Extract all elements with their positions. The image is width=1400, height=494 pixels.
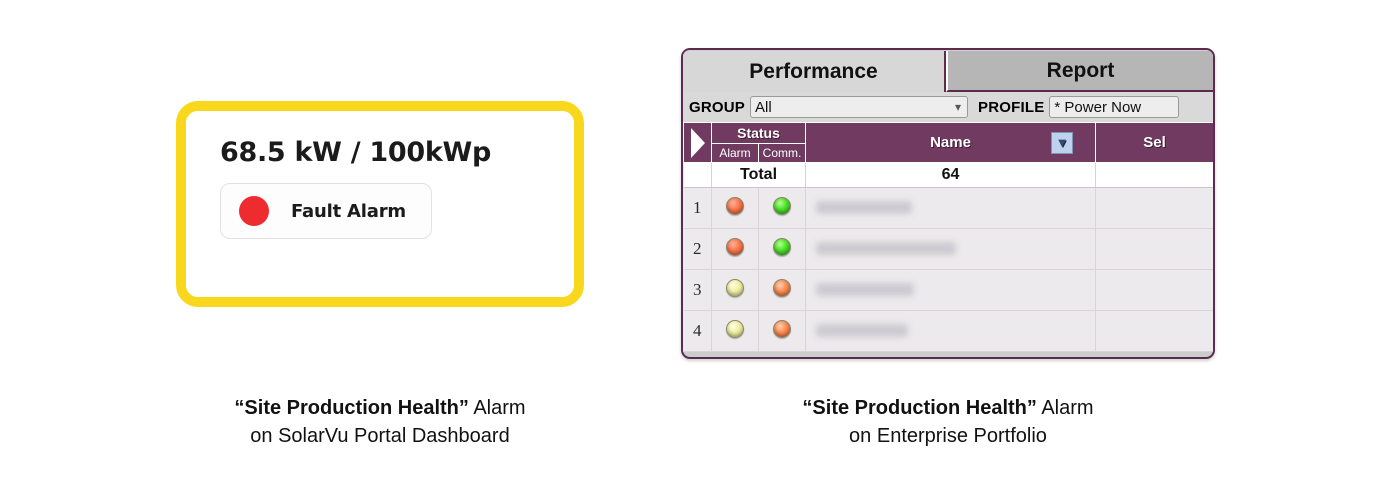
table-row[interactable]: 1 [684,188,1214,229]
row-number: 2 [684,229,712,270]
solarvu-dashboard-card: 68.5 kW / 100kWp Fault Alarm [176,101,584,307]
filter-bar: GROUP All ▾ PROFILE * Power Now [683,92,1213,122]
alarm-column-header: Alarm [712,144,759,163]
name-column-header[interactable]: Name ▼ [806,123,1096,163]
redacted-site-name [816,201,912,214]
alarm-led-icon [726,238,744,256]
redacted-site-name [816,242,956,255]
redacted-site-name [816,283,914,296]
site-name-cell[interactable] [806,229,1096,270]
caption-right: “Site Production Health” Alarm on Enterp… [708,394,1188,451]
caption-left-quoted: “Site Production Health” [234,397,468,419]
group-label: GROUP [689,99,745,116]
caption-right-quoted: “Site Production Health” [802,397,1036,419]
sel-cell[interactable] [1096,229,1214,270]
table-row[interactable]: 3 [684,270,1214,311]
status-column-header: Status [712,123,806,144]
tab-report-label: Report [1047,59,1115,83]
total-row-spacer [684,163,712,188]
caption-left-rest: Alarm [469,397,526,419]
comm-status-cell [759,229,806,270]
comm-led-icon [773,320,791,338]
dashboard-card-highlight-border: 68.5 kW / 100kWp Fault Alarm [176,101,584,307]
alarm-led-icon [726,279,744,297]
caption-left-line1: “Site Production Health” Alarm [140,394,620,422]
comm-status-cell [759,311,806,352]
site-name-cell[interactable] [806,270,1096,311]
triangle-right-icon [691,128,705,158]
power-readout: 68.5 kW / 100kWp [220,139,574,166]
group-select-value: All [755,99,772,116]
fault-alarm-label: Fault Alarm [291,201,406,222]
alarm-status-cell [712,311,759,352]
table-row[interactable]: 4 [684,311,1214,352]
table-body: Total 64 1234 [684,163,1214,352]
enterprise-portfolio-panel: Performance Report GROUP All ▾ PROFILE *… [681,48,1215,359]
expand-arrow-icon[interactable] [684,123,712,163]
row-number: 3 [684,270,712,311]
caption-right-line2: on Enterprise Portfolio [708,422,1188,450]
tab-strip: Performance Report [683,50,1213,92]
profile-label: PROFILE [978,99,1044,116]
alarm-status-cell [712,270,759,311]
comm-led-icon [773,238,791,256]
caption-right-rest: Alarm [1037,397,1094,419]
dashboard-card-body: 68.5 kW / 100kWp Fault Alarm [186,111,574,297]
tab-performance-label: Performance [749,60,877,84]
total-sel-value [1096,163,1214,188]
total-count: 64 [806,163,1096,188]
table-header: Status Name ▼ Sel Alarm Comm. [684,123,1214,163]
name-sort-chevron-down-icon[interactable]: ▼ [1051,132,1073,154]
comm-status-cell [759,270,806,311]
profile-select[interactable]: * Power Now [1049,96,1179,118]
alarm-led-icon [726,197,744,215]
total-label: Total [712,163,806,188]
row-number: 1 [684,188,712,229]
fault-alarm-led-icon [239,196,269,226]
tab-performance[interactable]: Performance [683,51,946,92]
caption-left-line2: on SolarVu Portal Dashboard [140,422,620,450]
chevron-down-icon: ▾ [955,101,961,113]
alarm-status-cell [712,188,759,229]
comm-led-icon [773,197,791,215]
sel-cell[interactable] [1096,188,1214,229]
redacted-site-name [816,324,908,337]
group-select[interactable]: All ▾ [750,96,968,118]
sel-cell[interactable] [1096,270,1214,311]
sel-cell[interactable] [1096,311,1214,352]
site-name-cell[interactable] [806,188,1096,229]
profile-select-value: * Power Now [1054,99,1141,116]
alarm-led-icon [726,320,744,338]
comm-led-icon [773,279,791,297]
portfolio-table: Status Name ▼ Sel Alarm Comm. Total 64 1… [683,122,1214,352]
comm-status-cell [759,188,806,229]
sel-column-header: Sel [1096,123,1214,163]
alarm-status-cell [712,229,759,270]
row-number: 4 [684,311,712,352]
caption-left: “Site Production Health” Alarm on SolarV… [140,394,620,451]
fault-alarm-status-pill[interactable]: Fault Alarm [220,183,432,239]
name-column-label: Name [930,134,971,151]
tab-report[interactable]: Report [946,51,1213,92]
site-name-cell[interactable] [806,311,1096,352]
total-row: Total 64 [684,163,1214,188]
caption-right-line1: “Site Production Health” Alarm [708,394,1188,422]
table-row[interactable]: 2 [684,229,1214,270]
comm-column-header: Comm. [759,144,806,163]
